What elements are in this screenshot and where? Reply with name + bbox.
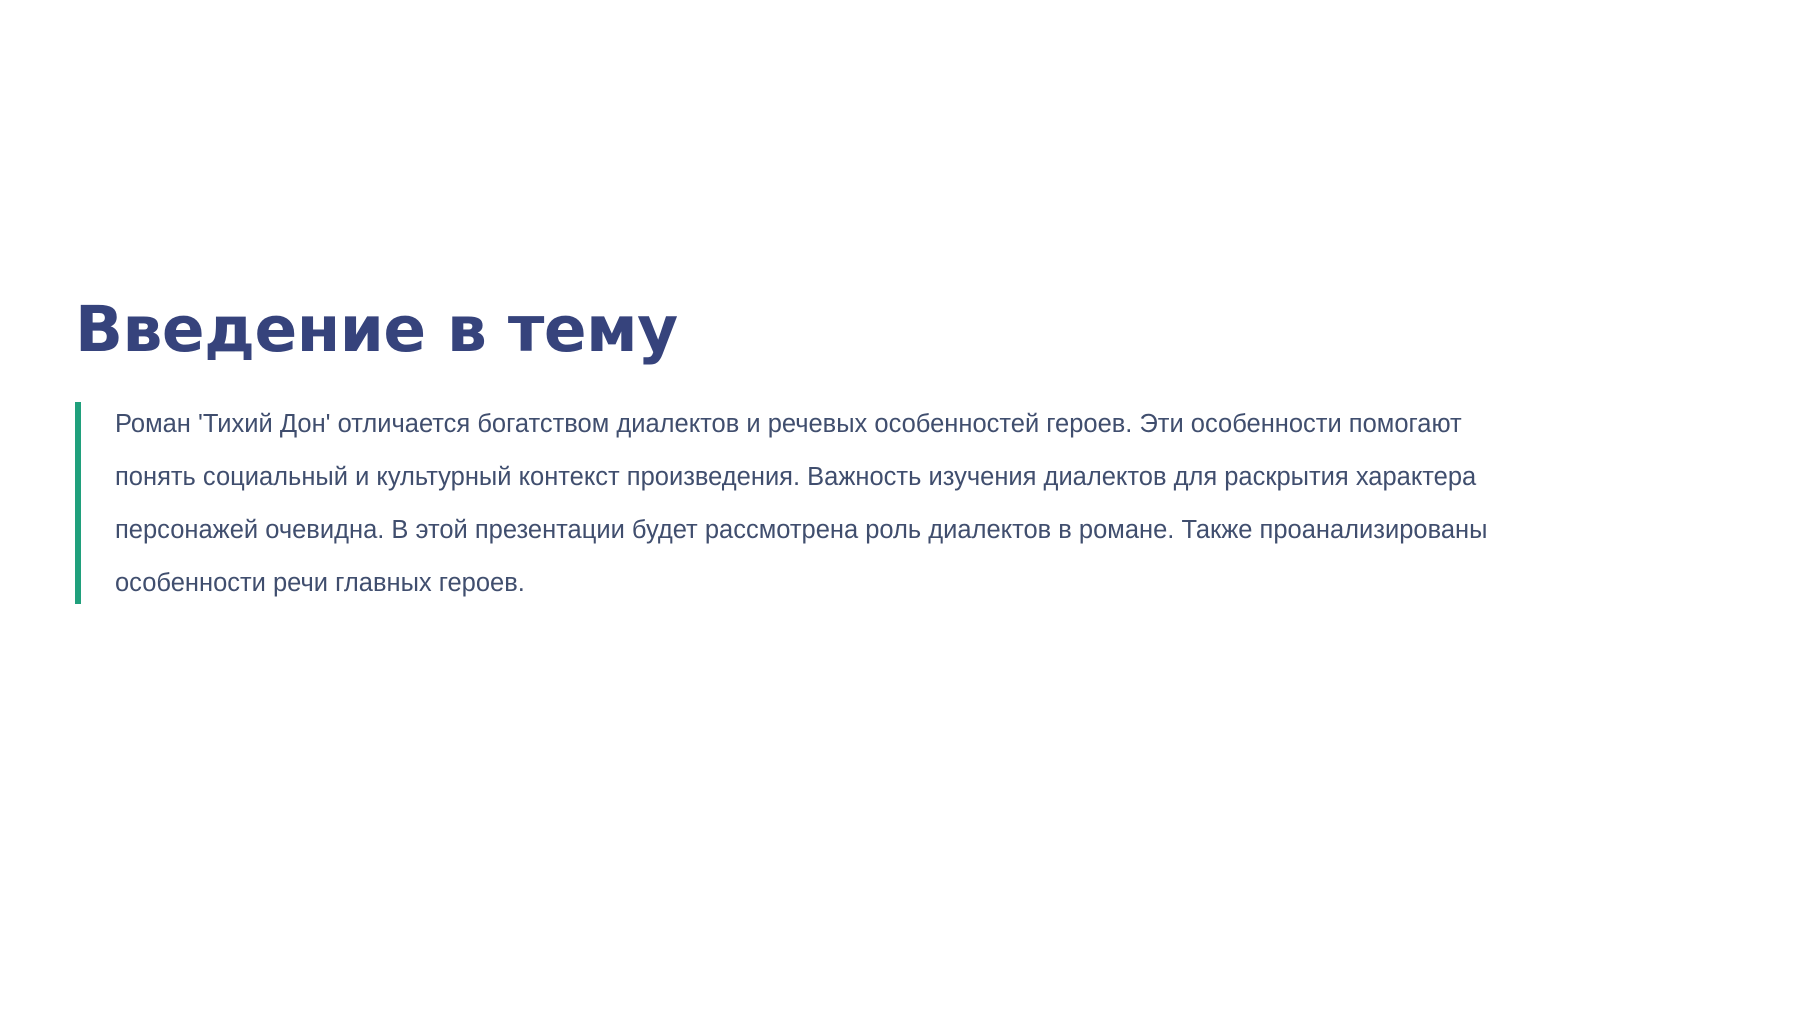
body-text-block: Роман 'Тихий Дон' отличается богатством …	[75, 398, 1725, 610]
presentation-slide: Введение в тему Роман 'Тихий Дон' отлича…	[0, 0, 1800, 1013]
body-paragraph: Роман 'Тихий Дон' отличается богатством …	[115, 398, 1535, 610]
page-title: Введение в тему	[75, 296, 1725, 364]
slide-content-area: Введение в тему Роман 'Тихий Дон' отлича…	[75, 296, 1725, 610]
accent-bar	[75, 402, 81, 604]
